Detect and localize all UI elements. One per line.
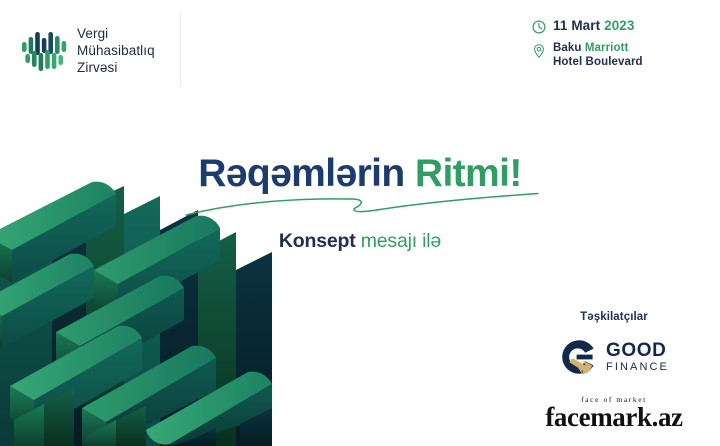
map-pin-icon xyxy=(532,44,546,58)
good-finance-logo: GOOD FINANCE xyxy=(530,337,698,377)
event-venue-city: Baku xyxy=(553,42,582,54)
facemark-wordmark: facemark.az xyxy=(530,402,698,432)
headline-accent: Ritmi! xyxy=(415,152,522,195)
event-poster: Vergi Mühasibatlıq Zirvəsi 11 Mart 2023 … xyxy=(0,0,720,446)
event-venue-brand: Marriott xyxy=(585,42,629,54)
good-finance-arrow-icon xyxy=(559,337,599,377)
good-finance-word-finance: FINANCE xyxy=(606,361,669,374)
sponsors-block: Təşkilatçılar GOOD FINANCE face of marke… xyxy=(530,311,698,432)
swoosh-underline-icon xyxy=(184,192,540,218)
event-date-year: 2023 xyxy=(604,18,634,33)
event-date-row: 11 Mart 2023 xyxy=(532,18,692,34)
event-venue-row: Baku Marriott Hotel Boulevard xyxy=(532,41,692,69)
good-finance-wordmark: GOOD FINANCE xyxy=(606,341,669,374)
subheadline-accent: mesajı ilə xyxy=(361,230,441,252)
brand-name: Vergi Mühasibatlıq Zirvəsi xyxy=(77,25,155,76)
clock-icon xyxy=(532,20,546,34)
event-venue: Baku Marriott Hotel Boulevard xyxy=(553,41,643,69)
facemark-logo: face of market facemark.az xyxy=(530,395,698,432)
good-finance-word-good: GOOD xyxy=(606,341,669,361)
event-date: 11 Mart 2023 xyxy=(553,18,635,33)
event-date-daymonth: 11 Mart xyxy=(553,18,600,33)
bar-cluster-logo-icon xyxy=(22,28,68,72)
header-divider xyxy=(180,12,181,86)
subheadline: Konsept mesajı ilə xyxy=(0,229,720,253)
event-venue-line2: Hotel Boulevard xyxy=(553,56,643,68)
subheadline-primary: Konsept xyxy=(279,230,356,252)
event-meta: 11 Mart 2023 Baku Marriott Hotel Bouleva… xyxy=(532,18,692,76)
sponsors-title: Təşkilatçılar xyxy=(530,311,698,323)
brand-lockup: Vergi Mühasibatlıq Zirvəsi xyxy=(22,20,155,80)
